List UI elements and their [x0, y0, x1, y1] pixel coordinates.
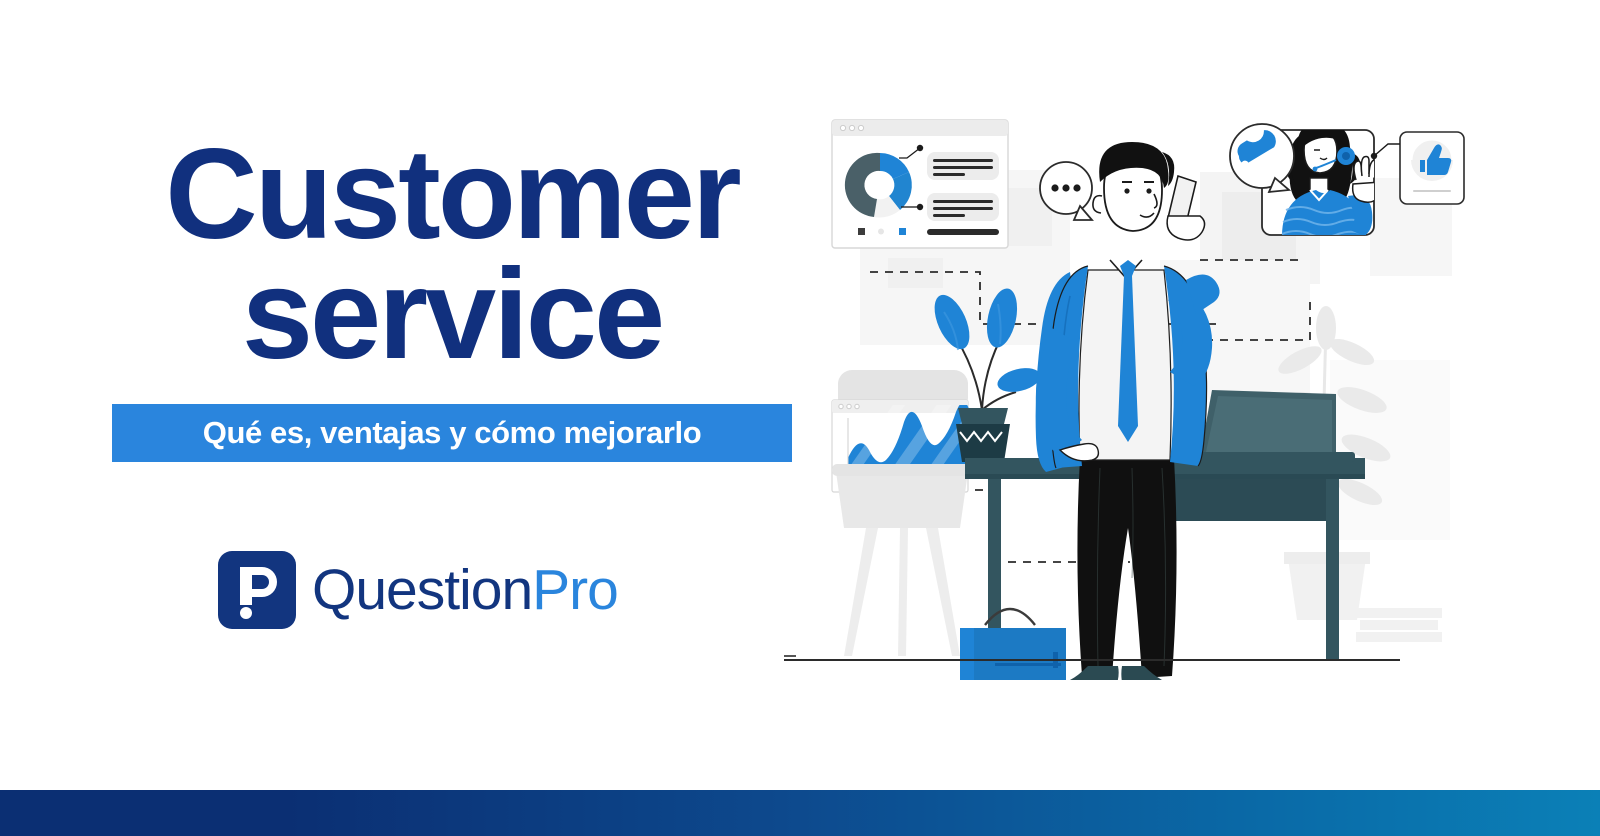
page-title: Customer service [112, 135, 792, 376]
office-chair [832, 464, 974, 656]
headline-block: Customer service Qué es, ventajas y cómo… [112, 135, 792, 462]
questionpro-logo-mark-icon [218, 551, 296, 629]
questionpro-wordmark: QuestionPro [312, 562, 618, 619]
paper-stack [1356, 608, 1442, 642]
logo-word-primary: Question [312, 558, 532, 622]
banner-root: Customer service Qué es, ventajas y cómo… [0, 0, 1600, 836]
briefcase [960, 609, 1066, 680]
laptop [1185, 390, 1355, 462]
subtitle-text: Qué es, ventajas y cómo mejorarlo [203, 415, 702, 451]
logo-word-secondary: Pro [532, 558, 618, 622]
footer-gradient-bar [0, 790, 1600, 836]
illustration-customer-service-scene [770, 60, 1470, 680]
ellipsis-icon [1051, 184, 1080, 191]
dashboard-window-donut [832, 120, 1008, 248]
subtitle-banner: Qué es, ventajas y cómo mejorarlo [112, 404, 792, 462]
questionpro-logo[interactable]: QuestionPro [218, 551, 618, 629]
